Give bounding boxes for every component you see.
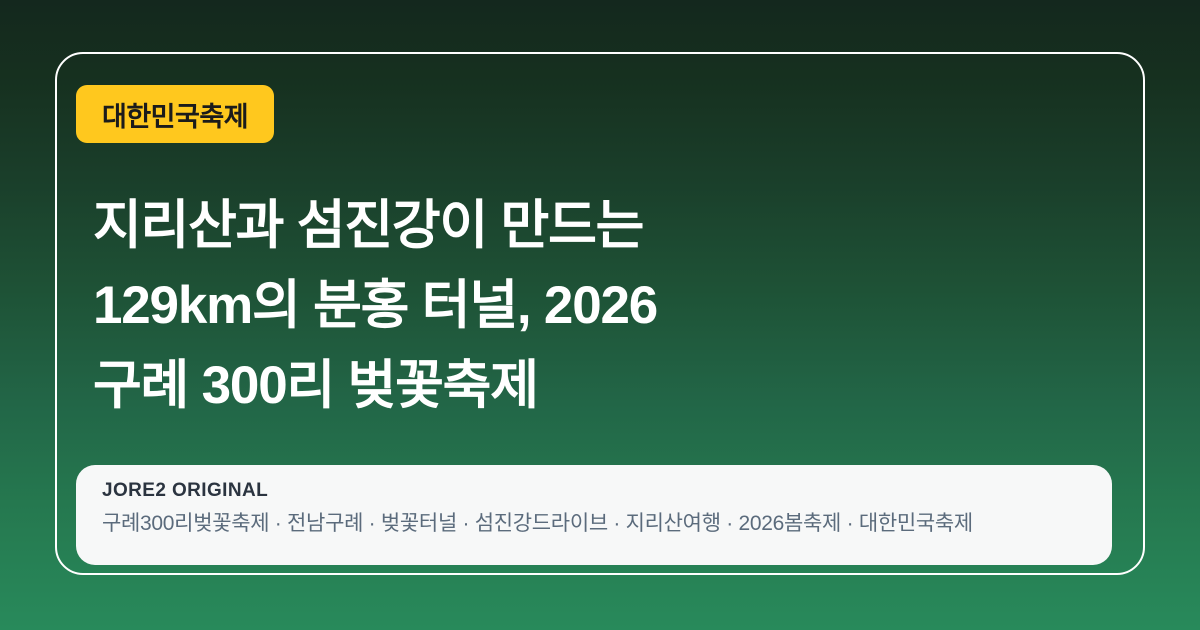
meta-text-block: JORE2 ORIGINAL 구례300리벚꽃축제 · 전남구례 · 벚꽃터널 …	[102, 478, 1200, 539]
og-card: 대한민국축제 지리산과 섬진강이 만드는 129km의 분홍 터널, 2026 …	[0, 0, 1200, 630]
page-title-line-2: 129km의 분홍 터널, 2026	[93, 266, 953, 346]
category-badge: 대한민국축제	[76, 85, 274, 143]
page-title-line-1: 지리산과 섬진강이 만드는	[93, 186, 953, 266]
tag-list: 구례300리벚꽃축제 · 전남구례 · 벚꽃터널 · 섬진강드라이브 · 지리산…	[102, 509, 1200, 539]
page-title-line-3: 구례 300리 벚꽃축제	[93, 346, 953, 426]
page-title: 지리산과 섬진강이 만드는 129km의 분홍 터널, 2026 구례 300리…	[93, 186, 953, 426]
category-badge-label: 대한민국축제	[102, 95, 248, 134]
source-kicker: JORE2 ORIGINAL	[102, 478, 1200, 504]
